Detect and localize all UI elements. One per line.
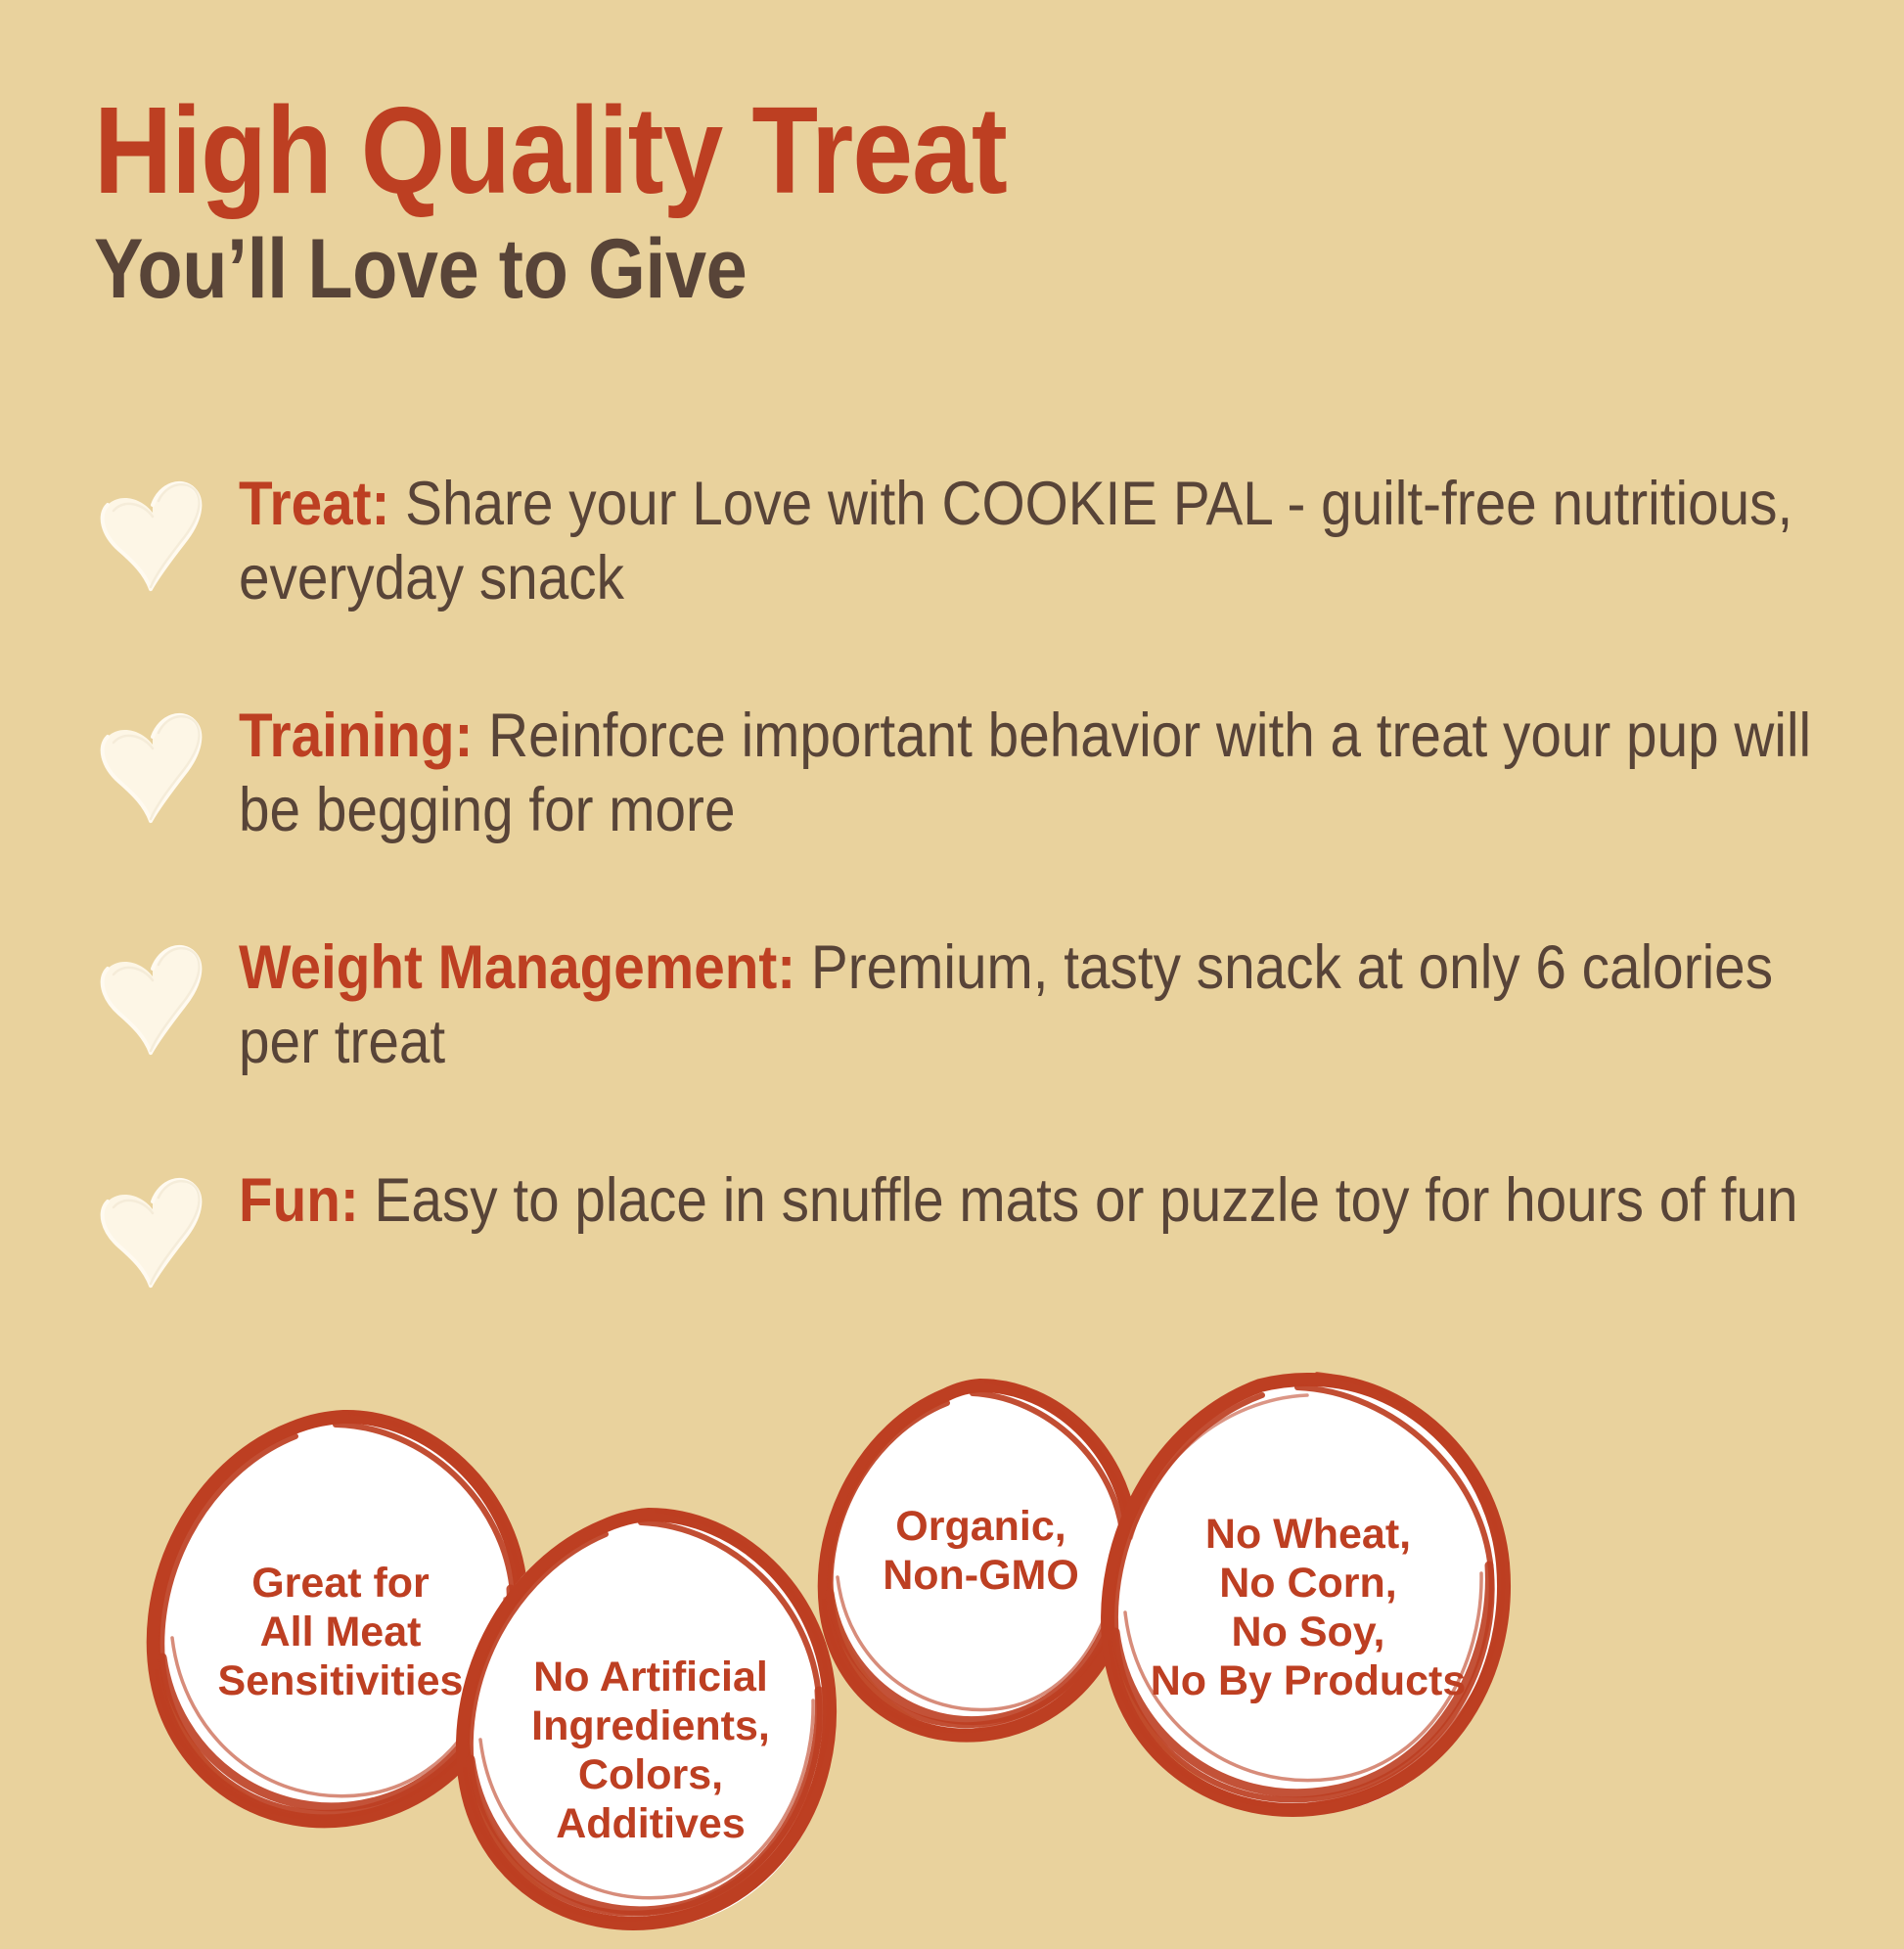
list-item-body: Reinforce important behavior with a trea… <box>239 702 1811 844</box>
promo-poster: High Quality Treat You’ll Love to Give T… <box>0 0 1904 1904</box>
heart-icon <box>94 935 209 1057</box>
badge-group: Great for All Meat Sensitivities No Arti… <box>0 1342 1904 1904</box>
list-item-label: Treat: <box>239 470 389 538</box>
list-item-text: Fun: Easy to place in snuffle mats or pu… <box>239 1164 1843 1239</box>
badge-label: No Wheat, No Corn, No Soy, No By Product… <box>1088 1511 1528 1706</box>
list-item-body: Share your Love with COOKIE PAL - guilt-… <box>239 470 1792 612</box>
list-item: Treat: Share your Love with COOKIE PAL -… <box>94 468 1845 615</box>
list-item: Training: Reinforce important behavior w… <box>94 700 1845 847</box>
list-item: Weight Management: Premium, tasty snack … <box>94 931 1845 1079</box>
badge-label: No Artificial Ingredients, Colors, Addit… <box>445 1654 856 1849</box>
heart-icon <box>94 472 209 593</box>
list-item-text: Weight Management: Premium, tasty snack … <box>239 931 1843 1079</box>
heart-icon <box>94 1168 209 1290</box>
list-item: Fun: Easy to place in snuffle mats or pu… <box>94 1164 1845 1307</box>
heading-block: High Quality Treat You’ll Love to Give <box>94 86 1816 316</box>
page-title: High Quality Treat <box>94 86 1609 214</box>
page-subtitle: You’ll Love to Give <box>94 222 1609 316</box>
badge-no-artificial-ingredients: No Artificial Ingredients, Colors, Addit… <box>445 1489 856 1949</box>
heart-icon <box>94 703 209 825</box>
list-item-label: Weight Management: <box>239 933 795 1002</box>
badge-no-wheat-corn-soy-byproducts: No Wheat, No Corn, No Soy, No By Product… <box>1088 1354 1528 1834</box>
list-item-label: Fun: <box>239 1166 359 1235</box>
list-item-label: Training: <box>239 702 473 770</box>
feature-list: Treat: Share your Love with COOKIE PAL -… <box>94 468 1845 1307</box>
list-item-body: Easy to place in snuffle mats or puzzle … <box>359 1166 1798 1235</box>
list-item-text: Training: Reinforce important behavior w… <box>239 700 1843 847</box>
list-item-text: Treat: Share your Love with COOKIE PAL -… <box>239 468 1843 615</box>
